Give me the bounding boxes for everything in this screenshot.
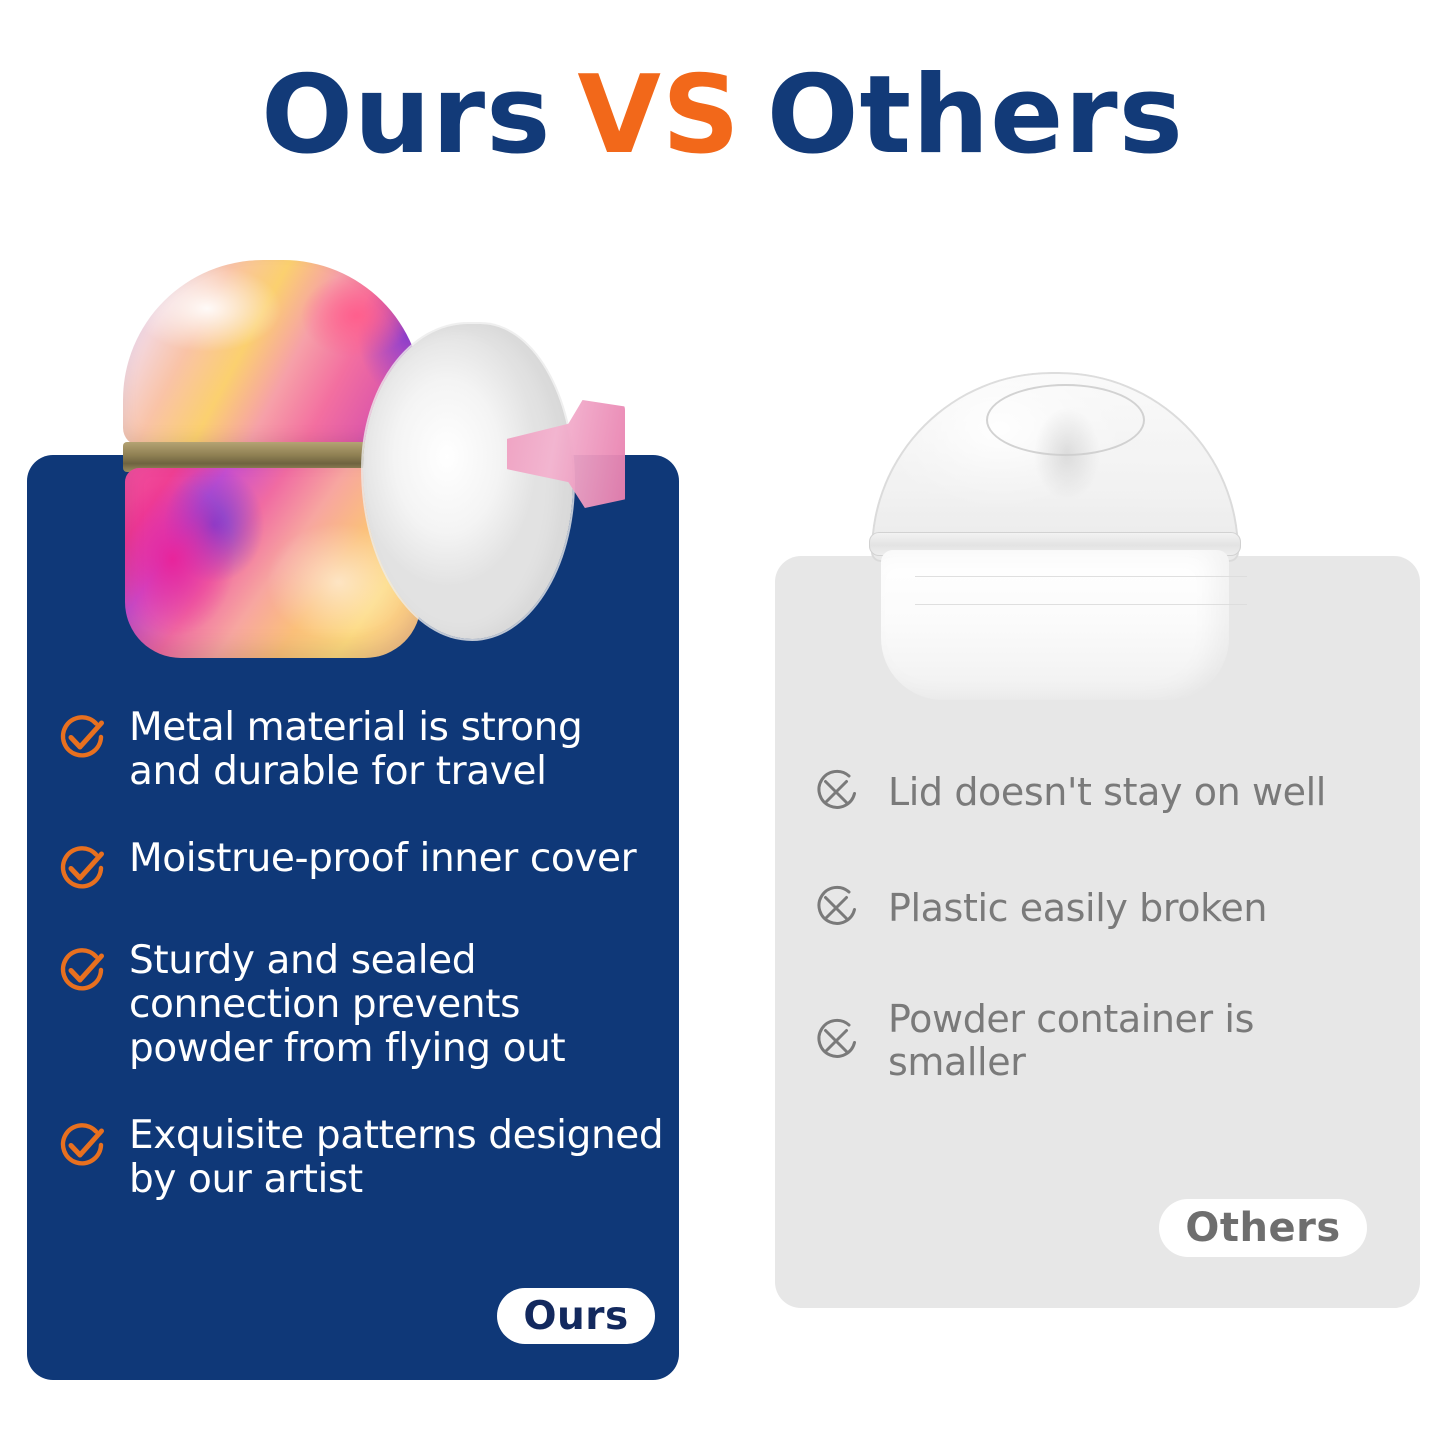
x-circle-icon	[810, 1015, 862, 1067]
list-item-label: Exquisite patterns designed by our artis…	[129, 1114, 665, 1201]
base-groove-line	[915, 576, 1247, 577]
list-item-label: Plastic easily broken	[888, 887, 1267, 930]
list-item-label: Powder container is smaller	[888, 998, 1400, 1083]
others-product-image	[855, 372, 1255, 702]
ours-product-image	[105, 252, 685, 682]
comparison-infographic: OursVSOthers Metal material is strong an…	[0, 0, 1445, 1445]
base-groove-line	[915, 604, 1247, 605]
title-word-vs: VS	[577, 62, 740, 170]
list-item: Plastic easily broken	[810, 882, 1400, 934]
ours-badge: Ours	[497, 1288, 655, 1344]
list-item: Moistrue-proof inner cover	[55, 837, 665, 895]
list-item: Exquisite patterns designed by our artis…	[55, 1114, 665, 1201]
list-item: Lid doesn't stay on well	[810, 766, 1400, 818]
list-item: Metal material is strong and durable for…	[55, 706, 665, 793]
check-circle-icon	[55, 1118, 109, 1172]
title-word-ours: Ours	[261, 62, 551, 170]
title-word-others: Others	[767, 62, 1184, 170]
page-title: OursVSOthers	[0, 62, 1445, 170]
list-item-label: Sturdy and sealed connection prevents po…	[129, 939, 665, 1070]
list-item-label: Lid doesn't stay on well	[888, 771, 1326, 814]
list-item: Sturdy and sealed connection prevents po…	[55, 939, 665, 1070]
check-circle-icon	[55, 710, 109, 764]
x-circle-icon	[810, 766, 862, 818]
x-circle-icon	[810, 882, 862, 934]
plastic-base-graphic	[881, 550, 1229, 700]
check-circle-icon	[55, 841, 109, 895]
check-circle-icon	[55, 943, 109, 997]
list-item-label: Metal material is strong and durable for…	[129, 706, 665, 793]
others-badge: Others	[1159, 1199, 1367, 1257]
list-item: Powder container is smaller	[810, 998, 1400, 1083]
ours-feature-list: Metal material is strong and durable for…	[55, 706, 665, 1202]
list-item-label: Moistrue-proof inner cover	[129, 837, 636, 881]
others-drawback-list: Lid doesn't stay on well Plastic easily …	[810, 766, 1400, 1083]
dome-top-ellipse-graphic	[986, 384, 1145, 456]
